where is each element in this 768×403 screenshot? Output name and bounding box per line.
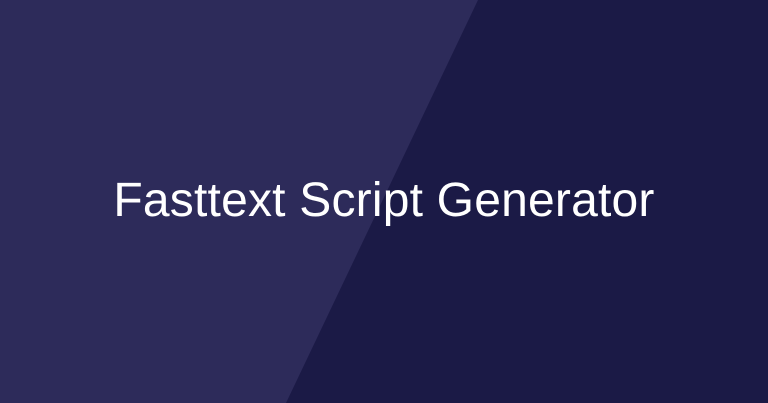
banner: Fasttext Script Generator (0, 0, 768, 403)
banner-title-container: Fasttext Script Generator (0, 0, 768, 403)
page-title: Fasttext Script Generator (113, 177, 654, 225)
